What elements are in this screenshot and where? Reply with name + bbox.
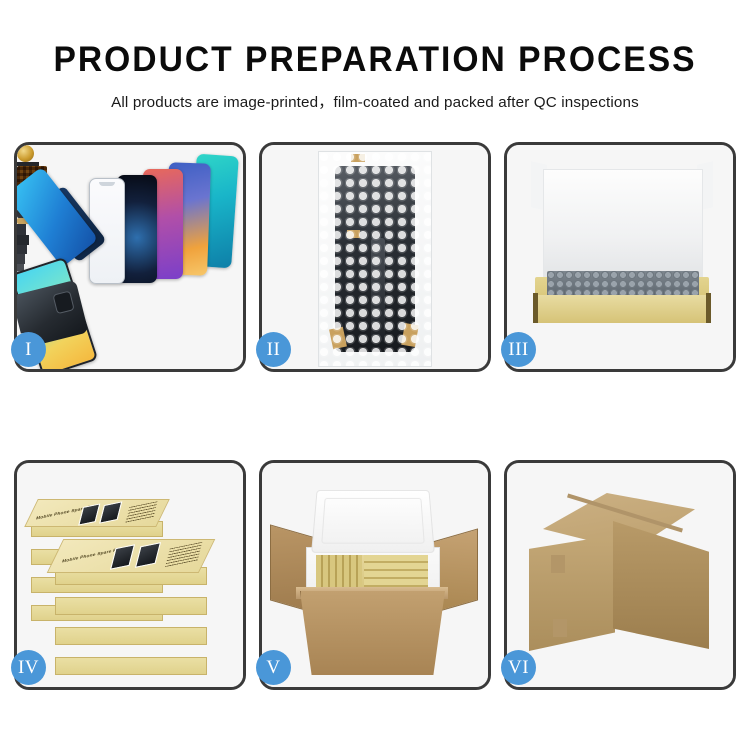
component-part-a [17,224,26,235]
page-subtitle: All products are image-printed，film-coat… [0,79,750,112]
stacked-box-rear-lid: Mobile Phone Spare Parts [24,499,170,527]
step-badge-3: III [501,332,536,367]
box-edge-right [706,293,711,323]
stacked-box-front-lid: Mobile Phone Spare Parts [47,539,216,573]
carton-tape-lower [553,619,567,637]
step-4-image: Mobile Phone Spare Parts Mobile Phone Sp… [17,463,243,687]
step-3-image [507,145,733,369]
kraft-box-front [535,295,709,323]
speaker-coil-part [17,145,34,162]
stacked-box-front-2 [55,597,207,615]
carton-body [300,591,445,675]
sealed-carton-right-face [613,521,709,649]
step-badge-1: I [11,332,46,367]
step-panel-5[interactable]: V [259,460,491,690]
box-text-lines-front [165,542,202,567]
bubble-wrap-contents [547,271,699,297]
step-panel-1[interactable]: I [14,142,246,372]
step-6-image [507,463,733,687]
step-panel-3[interactable]: III [504,142,736,372]
step-2-image [262,145,488,369]
step-badge-2: II [256,332,291,367]
box-screen-graphic-rear-b [99,501,122,523]
carton-tape-upper [551,555,565,573]
stacked-box-front-4 [55,657,207,675]
step-panel-2[interactable]: II [259,142,491,372]
component-part-b [17,235,29,245]
step-badge-5: V [256,650,291,685]
step-1-image [17,145,243,369]
bubble-texture [319,152,431,366]
process-step-grid: I II III [14,142,736,690]
box-edge-left [533,293,538,323]
box-lid-white [543,169,703,283]
step-5-image [262,463,488,687]
step-panel-4[interactable]: Mobile Phone Spare Parts Mobile Phone Sp… [14,460,246,690]
step-badge-6: VI [501,650,536,685]
step-badge-4: IV [11,650,46,685]
page-title: PRODUCT PREPARATION PROCESS [15,0,735,79]
box-screen-graphic-front-b [135,542,161,568]
page-header: PRODUCT PREPARATION PROCESS All products… [0,0,750,112]
component-part-c [17,245,27,254]
step-panel-6[interactable]: VI [504,460,736,690]
foam-box-lid [311,490,435,553]
box-text-lines-rear [125,501,157,522]
bubble-wrap-bag [318,151,432,367]
sealed-carton-left-face [529,535,615,651]
component-part-d [17,254,25,264]
stacked-box-front-3 [55,627,207,645]
